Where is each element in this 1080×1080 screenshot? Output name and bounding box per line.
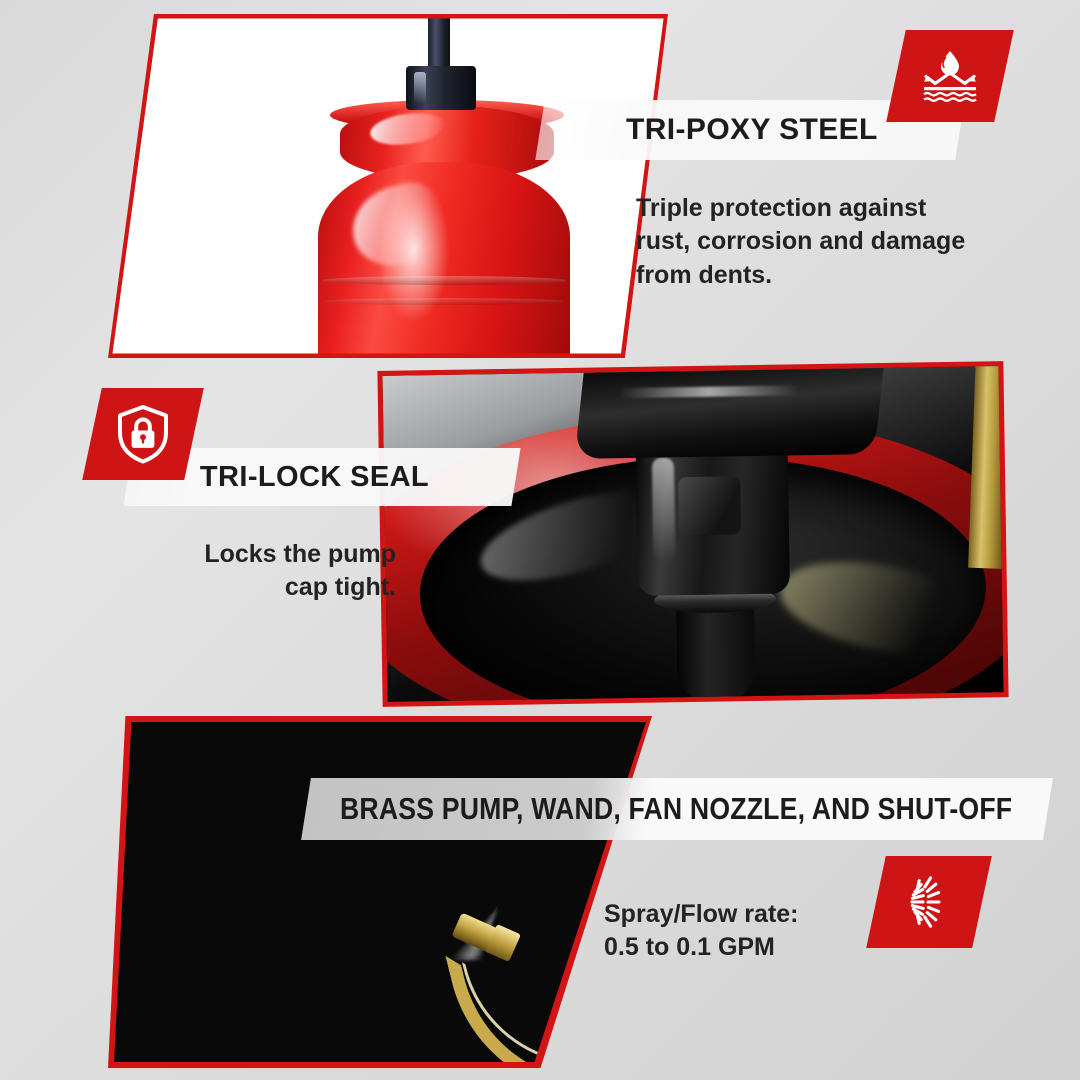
- feature-heading-brass-pump-wand: BRASS PUMP, WAND, FAN NOZZLE, AND SHUT-O…: [340, 791, 1012, 827]
- tank-seam-ring: [322, 276, 566, 285]
- droplet-layers-icon: [886, 30, 1014, 122]
- pump-cap-face: [678, 476, 741, 535]
- body-line: Spray/Flow rate:: [604, 898, 924, 931]
- feature-body-brass-pump-wand: Spray/Flow rate: 0.5 to 0.1 GPM: [604, 898, 924, 965]
- feature-photo-tri-lock-seal: [377, 361, 1008, 707]
- body-line: Triple protection against: [636, 192, 996, 225]
- pump-collar-highlight: [414, 72, 426, 104]
- spray-streaks: [108, 726, 498, 956]
- body-line: cap tight.: [148, 571, 396, 604]
- pump-handle: [575, 368, 884, 459]
- feature-photo-tri-poxy-steel: [108, 14, 668, 358]
- feature-photo-brass-pump-wand: [108, 716, 652, 1068]
- shield-lock-icon: [82, 388, 204, 480]
- photo-inner: [108, 716, 652, 1068]
- pump-stem: [676, 604, 755, 701]
- brass-wand-edge: [968, 366, 1003, 569]
- photo-inner: [108, 14, 668, 358]
- feature-heading-tri-poxy-steel: TRI-POXY STEEL: [626, 113, 878, 147]
- infographic-stage: TRI-POXY STEEL Triple protection against…: [0, 0, 1080, 1080]
- feature-heading-tri-lock-seal: TRI-LOCK SEAL: [200, 461, 429, 494]
- tank-seam-ring-lower: [324, 298, 564, 305]
- feature-heading-banner-brass-pump-wand: BRASS PUMP, WAND, FAN NOZZLE, AND SHUT-O…: [301, 778, 1053, 840]
- body-line: Locks the pump: [148, 538, 396, 571]
- body-line: 0.5 to 0.1 GPM: [604, 931, 924, 964]
- body-line: from dents.: [636, 259, 996, 292]
- pump-cap-highlight: [652, 457, 676, 561]
- body-line: rust, corrosion and damage: [636, 225, 996, 258]
- tank-body: [318, 162, 570, 358]
- photo-inner: [382, 366, 1003, 702]
- feature-body-tri-lock-seal: Locks the pump cap tight.: [148, 538, 396, 605]
- feature-body-tri-poxy-steel: Triple protection against rust, corrosio…: [636, 192, 996, 292]
